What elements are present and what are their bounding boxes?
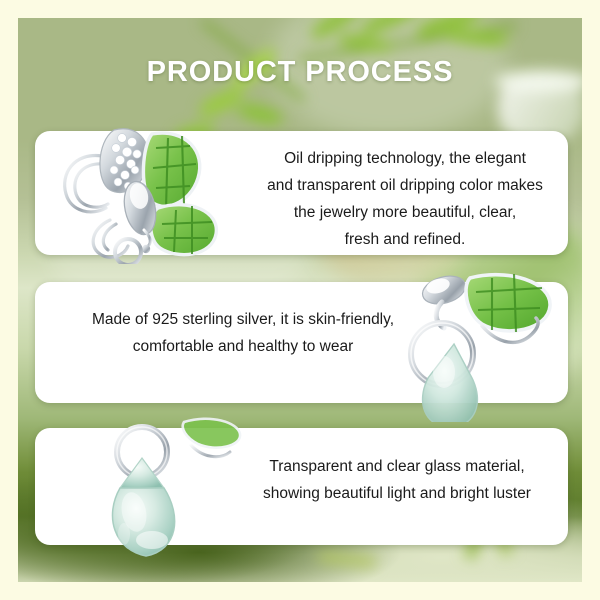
process-card-2: Made of 925 sterling silver, it is skin-… — [35, 282, 568, 403]
page-title: PRODUCT PROCESS — [0, 56, 600, 89]
process-card-1: Oil dripping technology, the elegant and… — [35, 131, 568, 255]
card-2-text: Made of 925 sterling silver, it is skin-… — [57, 306, 429, 360]
card-1-text: Oil dripping technology, the elegant and… — [235, 145, 575, 253]
card-3-text: Transparent and clear glass material, sh… — [227, 453, 567, 507]
process-card-3: Transparent and clear glass material, sh… — [35, 428, 568, 545]
infographic-root: PRODUCT PROCESS Oil dripping technology,… — [0, 0, 600, 600]
